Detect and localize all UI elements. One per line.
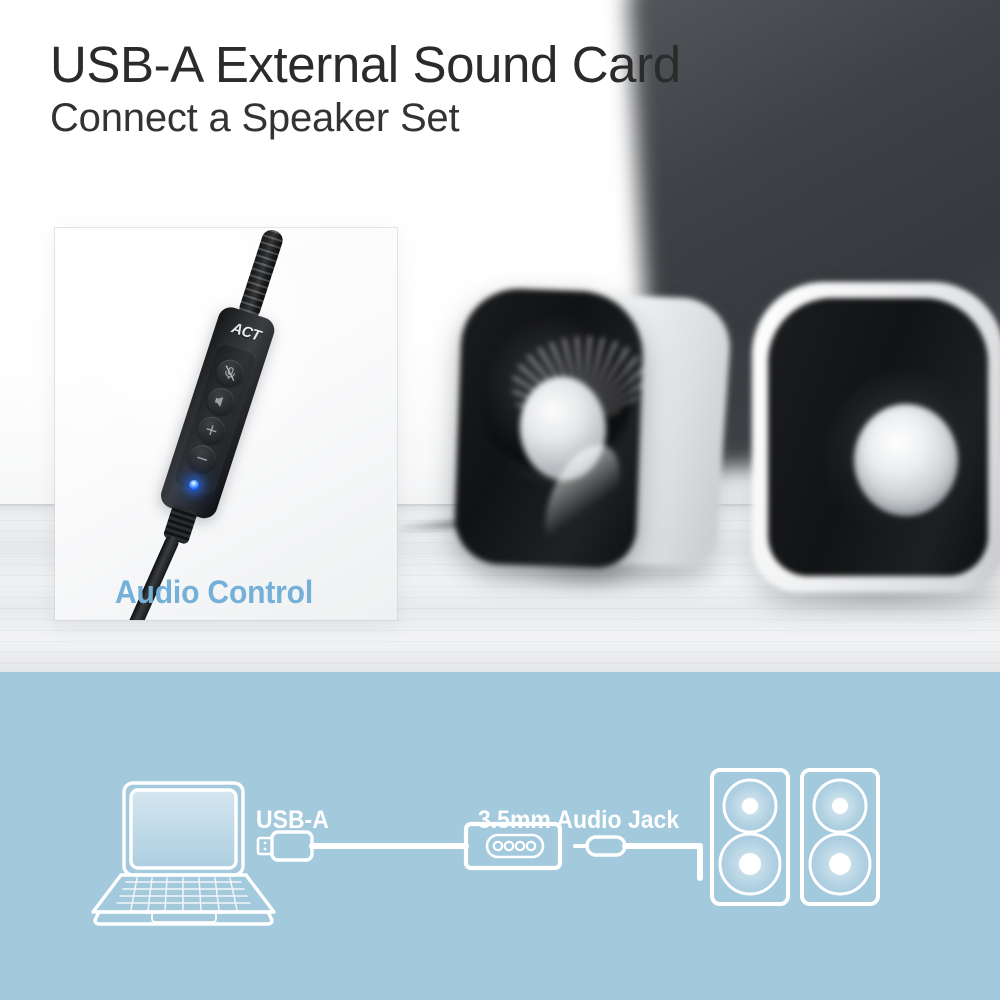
connection-diagram-band xyxy=(0,672,1000,1000)
dongle-cable-ribbing xyxy=(237,228,285,321)
connection-diagram xyxy=(0,672,1000,1000)
product-feature-image: USB-A External Sound Card Connect a Spea… xyxy=(0,0,1000,1000)
photo-speaker-right xyxy=(742,276,1000,606)
photo-speaker-left xyxy=(452,282,752,582)
page-subtitle: Connect a Speaker Set xyxy=(50,97,681,139)
inset-caption: Audio Control xyxy=(115,574,313,611)
speaker-left-front-panel xyxy=(453,287,645,569)
audio-cable xyxy=(625,846,700,878)
speaker-right-front-panel xyxy=(768,298,988,576)
speaker-icon-left xyxy=(712,770,788,904)
speaker-right-cone xyxy=(854,404,958,516)
page-title: USB-A External Sound Card xyxy=(50,38,681,91)
speaker-icon-right xyxy=(802,770,878,904)
audio-jack-plug-icon xyxy=(575,837,625,855)
audio-control-inset-photo: ACT xyxy=(55,228,397,620)
diagram-label-usb: USB-A xyxy=(256,806,329,835)
laptop-icon xyxy=(93,783,274,924)
diagram-label-audio-jack: 3.5mm Audio Jack xyxy=(478,806,679,835)
headline-block: USB-A External Sound Card Connect a Spea… xyxy=(50,38,681,139)
usb-a-plug-icon xyxy=(258,832,312,860)
